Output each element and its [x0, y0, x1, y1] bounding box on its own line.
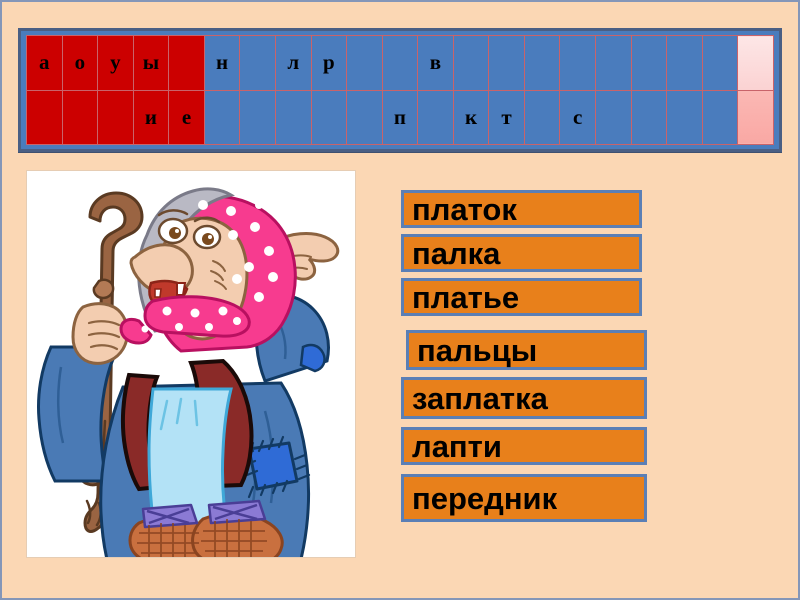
letter-cell-r1c7[interactable] — [240, 36, 276, 91]
letter-cell-r2c12[interactable] — [418, 90, 454, 145]
letter-cell-r2c14[interactable]: т — [489, 90, 525, 145]
word-button-платок[interactable]: платок — [401, 190, 642, 228]
letter-cell-r1c11[interactable] — [382, 36, 418, 91]
illustration-frame[interactable]: Увеличить — [26, 170, 356, 558]
letter-cell-r1c9[interactable]: р — [311, 36, 347, 91]
letter-cell-r2c20[interactable] — [702, 90, 738, 145]
letter-cell-r1c21[interactable] — [738, 36, 774, 91]
letter-cell-r1c4[interactable]: ы — [133, 36, 169, 91]
letter-grid-row: аоуынлрв — [27, 36, 774, 91]
letter-cell-r1c2[interactable]: о — [62, 36, 98, 91]
letter-cell-r1c12[interactable]: в — [418, 36, 454, 91]
word-button-лапти[interactable]: лапти — [401, 427, 647, 465]
word-button-платье[interactable]: платье — [401, 278, 642, 316]
letter-cell-r2c21[interactable] — [738, 90, 774, 145]
word-button-пальцы[interactable]: пальцы — [406, 330, 647, 370]
word-button-заплатка[interactable]: заплатка — [401, 377, 647, 419]
letter-cell-r1c13[interactable] — [453, 36, 489, 91]
letter-cell-r2c11[interactable]: п — [382, 90, 418, 145]
letter-cell-r2c17[interactable] — [596, 90, 632, 145]
letter-cell-r2c8[interactable] — [275, 90, 311, 145]
letter-cell-r2c5[interactable]: е — [169, 90, 205, 145]
letter-cell-r2c2[interactable] — [62, 90, 98, 145]
letter-cell-r1c1[interactable]: а — [27, 36, 63, 91]
letter-cell-r1c6[interactable]: н — [204, 36, 240, 91]
letter-cell-r1c17[interactable] — [596, 36, 632, 91]
letter-cell-r2c15[interactable] — [524, 90, 560, 145]
letter-cell-r2c18[interactable] — [631, 90, 667, 145]
left-hand-shape — [73, 304, 127, 364]
letter-cell-r2c19[interactable] — [667, 90, 703, 145]
letter-cell-r2c13[interactable]: к — [453, 90, 489, 145]
letter-cell-r1c5[interactable] — [169, 36, 205, 91]
letter-grid: аоуынлрвиепктс — [26, 35, 774, 145]
letter-cell-r1c14[interactable] — [489, 36, 525, 91]
word-button-передник[interactable]: передник — [401, 474, 647, 522]
letter-cell-r1c18[interactable] — [631, 36, 667, 91]
word-button-палка[interactable]: палка — [401, 234, 642, 272]
letter-cell-r2c6[interactable] — [204, 90, 240, 145]
letter-cell-r1c15[interactable] — [524, 36, 560, 91]
slide-canvas: аоуынлрвиепктс — [0, 0, 800, 600]
letter-grid-panel: аоуынлрвиепктс — [18, 28, 782, 152]
letter-cell-r1c20[interactable] — [702, 36, 738, 91]
letter-cell-r2c3[interactable] — [98, 90, 134, 145]
letter-grid-row: иепктс — [27, 90, 774, 145]
letter-cell-r1c3[interactable]: у — [98, 36, 134, 91]
letter-cell-r1c10[interactable] — [347, 36, 383, 91]
letter-cell-r2c16[interactable]: с — [560, 90, 596, 145]
baba-yaga-illustration — [27, 171, 355, 557]
letter-cell-r1c19[interactable] — [667, 36, 703, 91]
letter-cell-r1c16[interactable] — [560, 36, 596, 91]
letter-cell-r2c10[interactable] — [347, 90, 383, 145]
letter-cell-r2c9[interactable] — [311, 90, 347, 145]
letter-cell-r2c1[interactable] — [27, 90, 63, 145]
letter-cell-r1c8[interactable]: л — [275, 36, 311, 91]
letter-cell-r2c7[interactable] — [240, 90, 276, 145]
letter-cell-r2c4[interactable]: и — [133, 90, 169, 145]
